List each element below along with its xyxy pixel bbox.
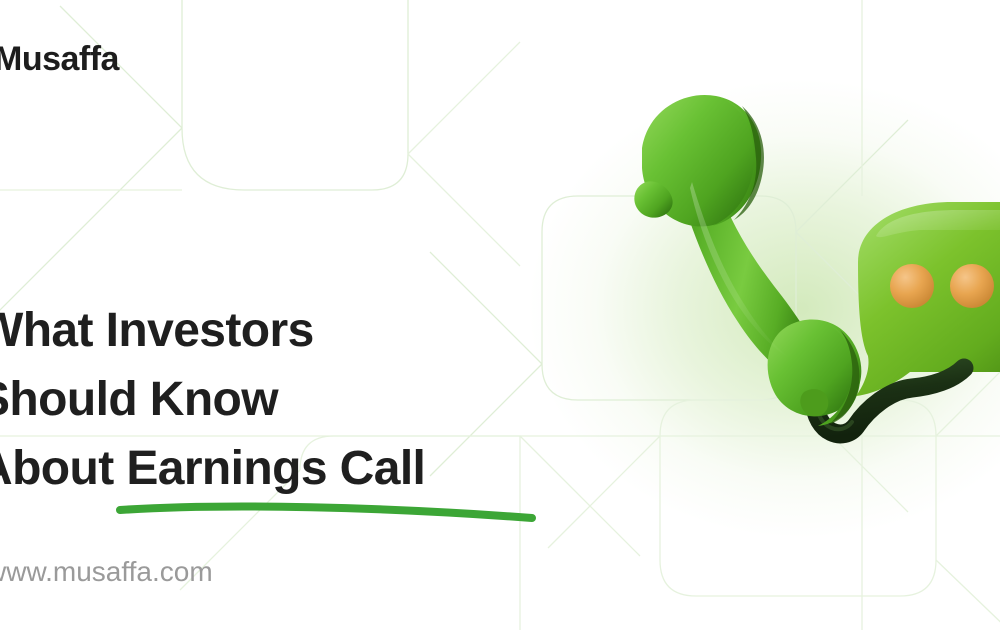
handset-body: [634, 95, 861, 426]
headline-underline: [116, 496, 536, 532]
banner-graphic: .pl { fill:none; stroke:#dfeed6; stroke-…: [0, 0, 1000, 630]
speech-bubble-shape: [856, 202, 1000, 396]
headline-line-2: Should Know: [0, 365, 578, 434]
page-title: What Investors Should Know About Earning…: [0, 296, 578, 503]
bubble-dot-1: [890, 264, 934, 308]
site-url: www.musaffa.com: [0, 556, 213, 588]
telephone-cord: [814, 368, 964, 434]
headline-line-1: What Investors: [0, 296, 578, 365]
illustration-telephone-handset: [560, 90, 1000, 540]
bubble-dot-2: [950, 264, 994, 308]
brand-logo: Musaffa: [0, 40, 119, 79]
headline-line-3: About Earnings Call: [0, 434, 578, 503]
